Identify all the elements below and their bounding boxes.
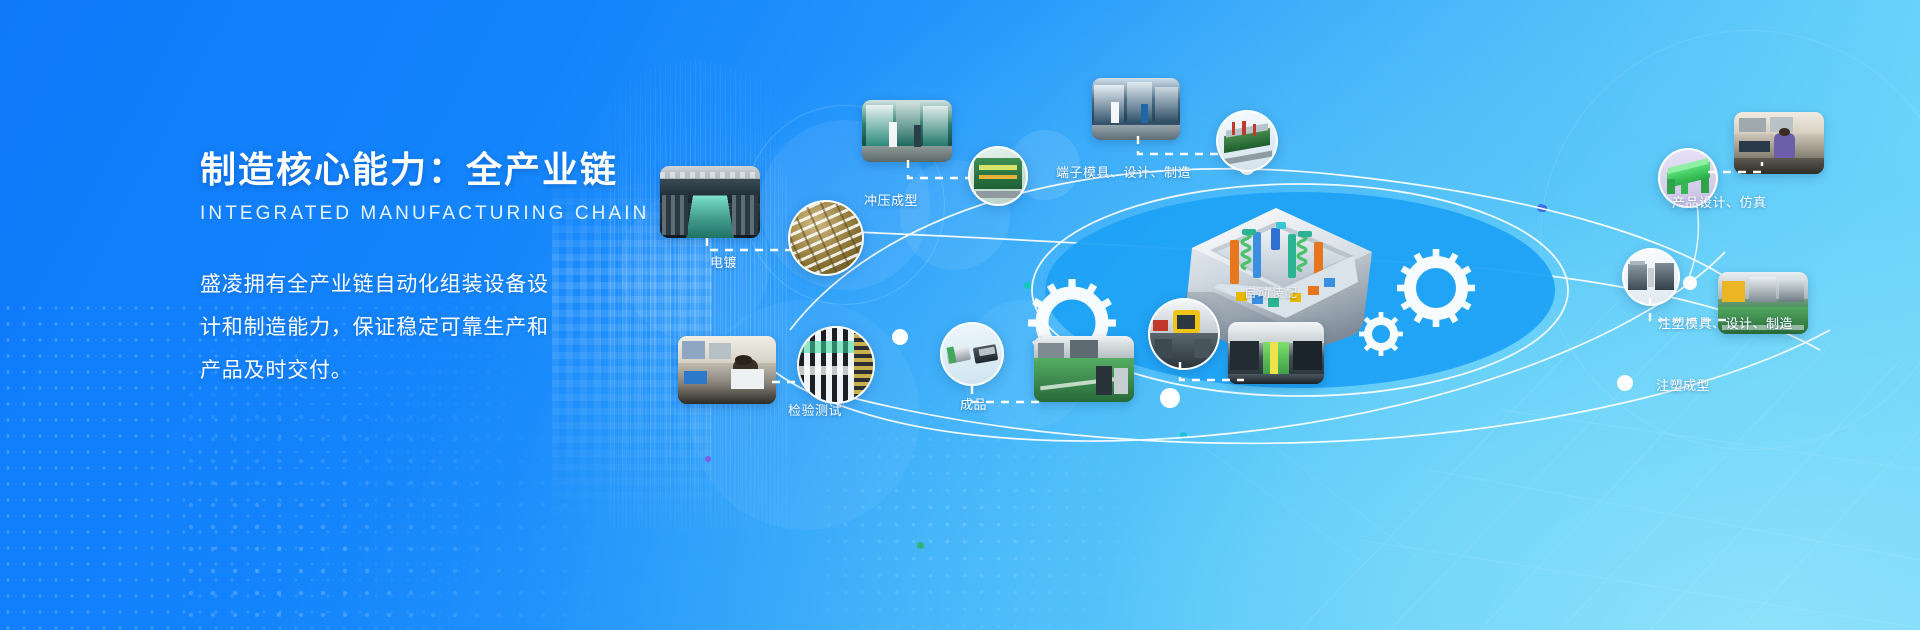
label-finished-goods: 成品 [960,394,987,413]
description-paragraph: 盛凌拥有全产业链自动化组装设备设计和制造能力，保证稳定可靠生产和产品及时交付。 [200,263,566,392]
gear-large-right [1397,249,1475,327]
core-machine-label: 自动装配 [1244,282,1298,301]
label-inspection-test: 检验测试 [788,400,842,419]
photo-finished-goods-line[interactable] [1034,336,1134,402]
bubble-stamping[interactable] [968,146,1028,206]
label-injection-mold: 注塑模具、设计、制造 [1658,313,1793,332]
photo-stamping-workshop[interactable] [862,100,952,162]
bubble-electroplating[interactable] [788,200,864,276]
photo-electroplating-line[interactable] [660,166,760,238]
label-electroplating: 电镀 [710,252,737,271]
dash-connector-injection-molding [1174,358,1250,390]
bubble-inspection-test[interactable] [797,326,875,404]
label-terminal-mold: 端子模具、设计、制造 [1056,162,1191,181]
label-product-design: 产品设计、仿真 [1672,192,1767,211]
headline-block: 制造核心能力：全产业链 INTEGRATED MANUFACTURING CHA… [200,148,620,392]
manufacturing-chain-diagram: 自动装配 电镀 [640,0,1920,630]
dash-connector-product-design [1706,160,1776,184]
page-title: 制造核心能力：全产业链 [200,148,620,191]
photo-terminal-mold-workshop[interactable] [1092,78,1180,140]
label-injection-molding: 注塑成型 [1656,375,1710,394]
photo-inspection-lab[interactable] [678,336,776,404]
bubble-finished-goods[interactable] [940,322,1004,386]
manufacturing-capability-banner: 制造核心能力：全产业链 INTEGRATED MANUFACTURING CHA… [0,0,1920,630]
label-stamping: 冲压成型 [864,190,918,209]
bubble-terminal-mold[interactable] [1216,110,1278,172]
page-subtitle: INTEGRATED MANUFACTURING CHAIN [200,203,620,225]
